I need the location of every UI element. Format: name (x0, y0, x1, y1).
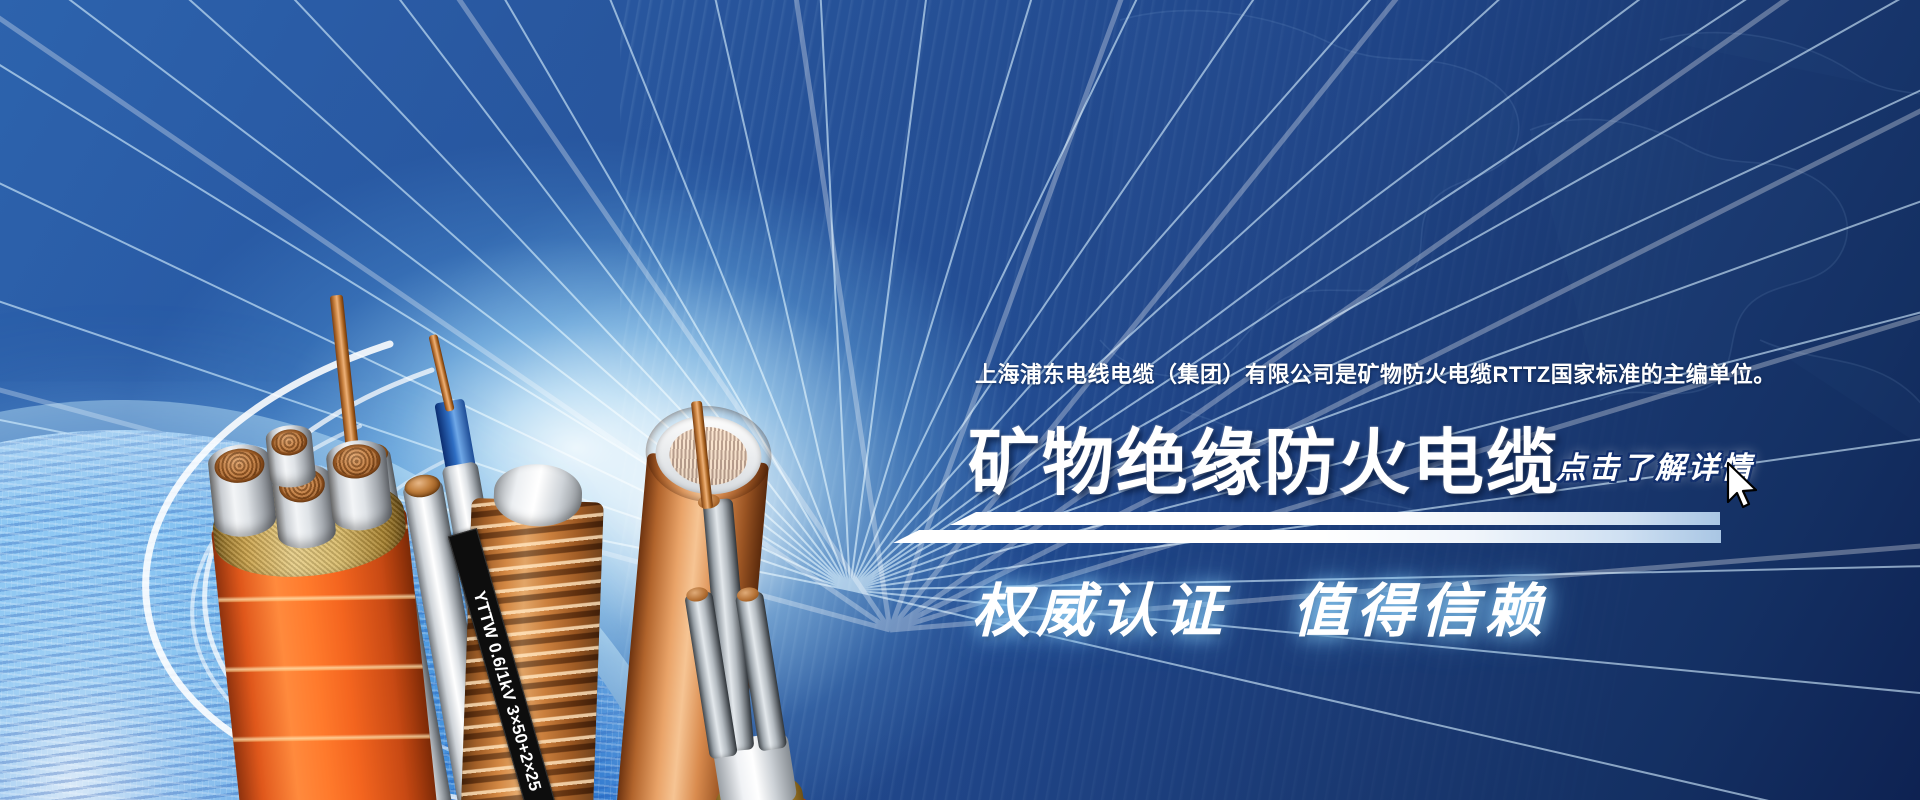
divider-bar-bottom (893, 530, 1721, 543)
banner-headline: 矿物绝缘防火电缆 (968, 404, 1560, 509)
hero-banner: YTTW 0.6/1kV 3×50+2×25 上海浦东电线电缆（集团）有限公司是… (0, 0, 1920, 800)
divider-bar-top (950, 512, 1720, 525)
learn-more-cta[interactable]: 点击了解详情 (1556, 443, 1754, 487)
cable-corrugated-copper: YTTW 0.6/1kV 3×50+2×25 (455, 378, 608, 800)
banner-subtitle: 上海浦东电线电缆（集团）有限公司是矿物防火电缆RTTZ国家标准的主编单位。 (975, 357, 1776, 389)
cable-product-group: YTTW 0.6/1kV 3×50+2×25 (0, 180, 1020, 800)
mouse-pointer-icon (1726, 462, 1760, 510)
banner-tagline: 权威认证 值得信赖 (972, 564, 1548, 648)
